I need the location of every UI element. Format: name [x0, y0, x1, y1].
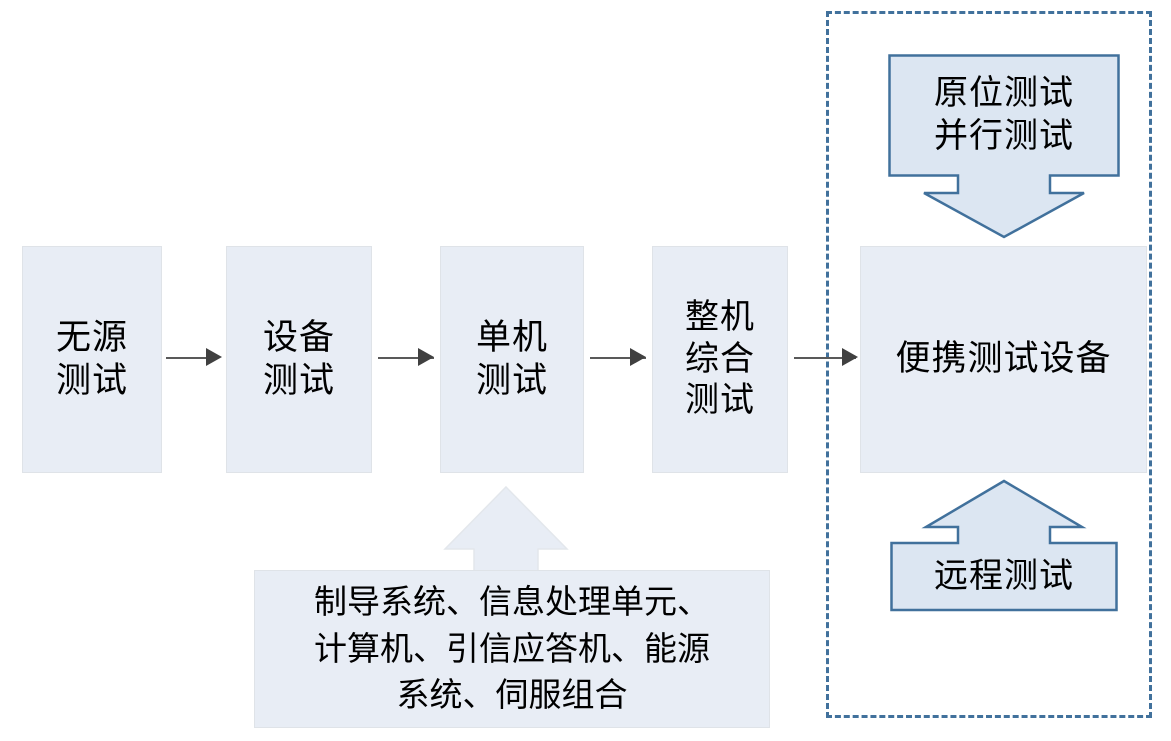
portable-test-equipment-label: 便携测试设备	[895, 338, 1111, 381]
stage-label: 单机 测试	[472, 317, 552, 402]
stage-box-danji-ceshi[interactable]: 单机 测试	[440, 246, 584, 473]
in-situ-parallel-test-callout[interactable]	[888, 54, 1120, 240]
arrow-right-icon-3	[630, 348, 646, 366]
down-arrow-callout-icon	[888, 54, 1120, 240]
stage-box-shebei-ceshi[interactable]: 设备 测试	[226, 246, 372, 473]
up-arrow-block-icon	[444, 486, 568, 574]
arrow-right-icon-2	[418, 348, 434, 366]
arrow-right-icon-4	[842, 348, 858, 366]
components-up-arrow	[444, 486, 568, 574]
arrow-right-icon-1	[206, 348, 222, 366]
diagram-canvas: 无源 测试 设备 测试 单机 测试 整机 综合 测试 便携测试设备 原位测试 并…	[0, 0, 1171, 741]
components-list-box[interactable]: 制导系统、信息处理单元、 计算机、引信应答机、能源 系统、伺服组合	[254, 570, 770, 728]
portable-test-equipment-box[interactable]: 便携测试设备	[860, 246, 1147, 473]
stage-label: 设备 测试	[259, 317, 339, 402]
remote-test-callout[interactable]	[890, 479, 1118, 612]
up-arrow-callout-icon	[890, 479, 1118, 612]
components-list-label: 制导系统、信息处理单元、 计算机、引信应答机、能源 系统、伺服组合	[304, 579, 720, 720]
stage-box-wuyuan-ceshi[interactable]: 无源 测试	[22, 246, 162, 473]
stage-box-zhengji-zonghe-ceshi[interactable]: 整机 综合 测试	[652, 246, 788, 473]
stage-label: 整机 综合 测试	[681, 297, 759, 421]
stage-label: 无源 测试	[52, 317, 132, 402]
